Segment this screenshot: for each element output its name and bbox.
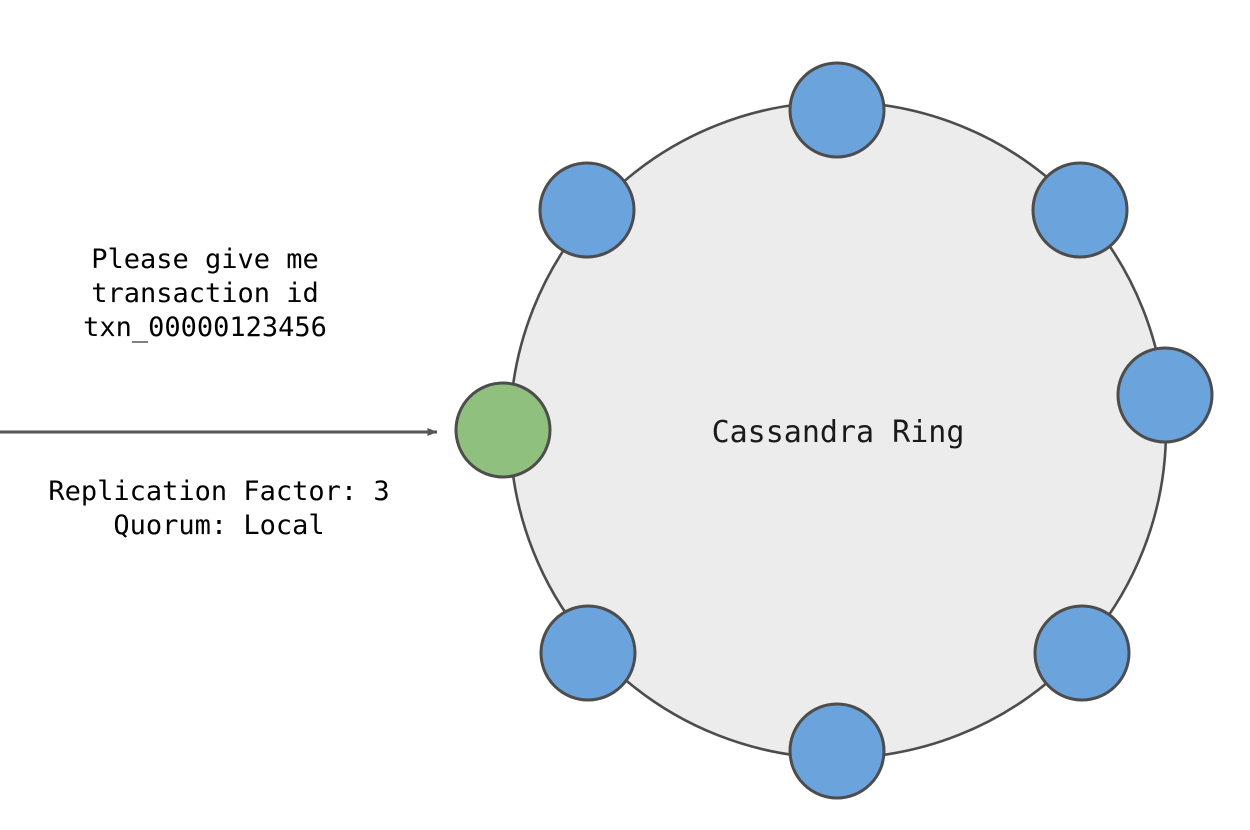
config-text-line-1: Replication Factor: 3	[48, 476, 389, 507]
node-coordinator[interactable]	[456, 383, 550, 477]
request-text-line-3: txn_00000123456	[83, 312, 327, 343]
node-top[interactable]	[790, 63, 884, 157]
node-upper-right[interactable]	[1033, 163, 1127, 257]
node-lower-left[interactable]	[541, 606, 635, 700]
node-lower-right[interactable]	[1035, 606, 1129, 700]
request-text-line-1: Please give me	[91, 244, 319, 275]
node-right[interactable]	[1118, 348, 1212, 442]
request-message: Please give metransaction idtxn_00000123…	[83, 244, 327, 343]
ring-label: Cassandra Ring	[712, 415, 965, 450]
config-text-line-2: Quorum: Local	[113, 510, 324, 541]
cassandra-ring-diagram: Cassandra Ring Please give metransaction…	[0, 0, 1250, 830]
request-text-line-2: transaction id	[91, 278, 319, 309]
node-upper-left[interactable]	[540, 163, 634, 257]
replication-config: Replication Factor: 3Quorum: Local	[48, 476, 389, 541]
node-bottom[interactable]	[790, 704, 884, 798]
